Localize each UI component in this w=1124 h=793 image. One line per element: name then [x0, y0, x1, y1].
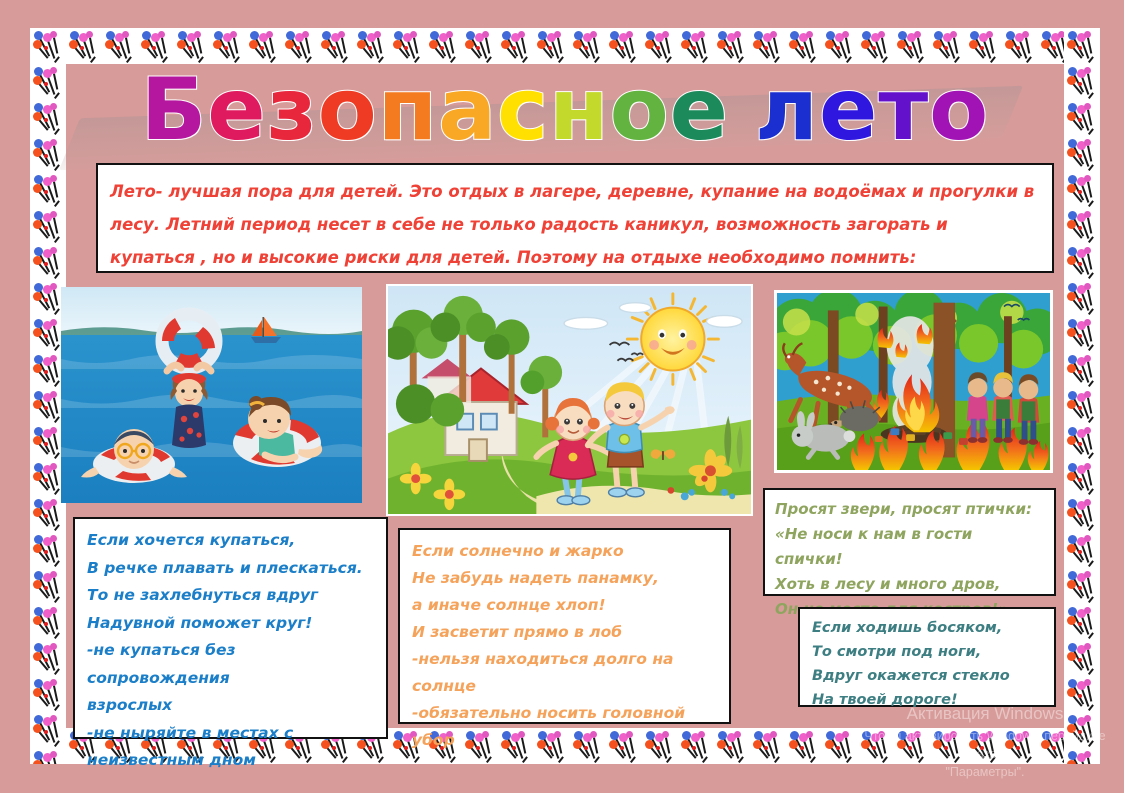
balloon-bunch-icon: [31, 677, 65, 711]
border-right: [1064, 28, 1100, 764]
forest-card-line-1: «Не носи к нам в гости спички!: [775, 522, 1044, 572]
title-letter-11: л: [755, 60, 819, 160]
fire-safety-rhyme-card: Просят звери, просят птички:«Не носи к н…: [763, 488, 1056, 596]
balloon-bunch-icon: [31, 569, 65, 603]
balloon-bunch-icon: [859, 29, 893, 63]
balloon-bunch-icon: [1065, 677, 1099, 711]
barefoot-card-line-0: Если ходишь босяком,: [812, 616, 1044, 640]
watermark-line-2: "Параметры".: [860, 763, 1110, 781]
balloon-bunch-icon: [175, 29, 209, 63]
balloon-bunch-icon: [103, 29, 137, 63]
balloon-bunch-icon: [1065, 461, 1099, 495]
title-letter-5: а: [438, 60, 497, 160]
balloon-bunch-icon: [31, 65, 65, 99]
balloon-bunch-icon: [1065, 497, 1099, 531]
title-letter-8: о: [610, 60, 670, 160]
balloon-bunch-icon: [931, 29, 965, 63]
balloon-bunch-icon: [859, 729, 893, 763]
sun-safety-rhyme-card: Если солнечно и жаркоНе забудь надеть па…: [398, 528, 731, 724]
balloon-bunch-icon: [1065, 173, 1099, 207]
forest-card-line-2: Хоть в лесу и много дров,: [775, 572, 1044, 597]
balloon-bunch-icon: [319, 29, 353, 63]
balloon-bunch-icon: [895, 729, 929, 763]
balloon-bunch-icon: [715, 29, 749, 63]
balloon-bunch-icon: [1003, 729, 1037, 763]
balloon-bunch-icon: [571, 29, 605, 63]
balloon-bunch-icon: [31, 317, 65, 351]
balloon-bunch-icon: [535, 29, 569, 63]
title-letter-3: о: [318, 60, 378, 160]
title-letter-7: н: [549, 60, 609, 160]
intro-card-line-0: Лето- лучшая пора для детей. Это отдых в…: [110, 175, 1040, 208]
balloon-bunch-icon: [823, 729, 857, 763]
balloon-bunch-icon: [607, 29, 641, 63]
balloon-bunch-icon: [211, 29, 245, 63]
balloon-bunch-icon: [679, 29, 713, 63]
balloon-bunch-icon: [31, 497, 65, 531]
barefoot-safety-rhyme-card: Если ходишь босяком,То смотри под ноги, …: [798, 607, 1056, 707]
title-letter-14: о: [929, 60, 989, 160]
title-letter-4: п: [378, 60, 438, 160]
title-letter-2: з: [267, 60, 318, 160]
title-letter-12: е: [819, 60, 878, 160]
balloon-bunch-icon: [31, 245, 65, 279]
balloon-bunch-icon: [1065, 641, 1099, 675]
balloon-bunch-icon: [643, 29, 677, 63]
barefoot-card-line-2: Вдруг окажется стекло: [812, 664, 1044, 688]
water-card-line-6: -не ныряйте в местах с: [87, 720, 376, 748]
water-safety-rhyme-card: Если хочется купаться,В речке плавать и …: [73, 517, 388, 739]
balloon-bunch-icon: [1065, 749, 1099, 764]
balloon-bunch-icon: [31, 173, 65, 207]
balloon-bunch-icon: [427, 29, 461, 63]
balloon-bunch-icon: [1065, 29, 1099, 63]
balloon-bunch-icon: [895, 29, 929, 63]
balloon-bunch-icon: [1065, 713, 1099, 747]
title-letter-13: т: [878, 60, 929, 160]
water-card-line-5: взрослых: [87, 692, 376, 720]
balloon-bunch-icon: [499, 29, 533, 63]
barefoot-card-line-1: То смотри под ноги,: [812, 640, 1044, 664]
balloon-bunch-icon: [31, 641, 65, 675]
balloon-bunch-icon: [715, 729, 749, 763]
forest-card-line-0: Просят звери, просят птички:: [775, 497, 1044, 522]
balloon-bunch-icon: [1065, 533, 1099, 567]
intro-card-line-1: лесу. Летний период несет в себе не толь…: [110, 208, 1040, 241]
water-card-line-4: -не купаться без сопровождения: [87, 637, 376, 692]
balloon-bunch-icon: [1065, 317, 1099, 351]
border-top: [30, 28, 1100, 64]
balloon-bunch-icon: [31, 461, 65, 495]
balloon-bunch-icon: [787, 29, 821, 63]
balloon-bunch-icon: [1065, 245, 1099, 279]
water-card-line-1: В речке плавать и плескаться.: [87, 555, 376, 583]
balloon-bunch-icon: [31, 353, 65, 387]
balloon-bunch-icon: [1065, 281, 1099, 315]
balloon-bunch-icon: [31, 209, 65, 243]
sun-card-line-4: -нельзя находиться долго на солнце: [412, 646, 719, 700]
balloon-bunch-icon: [31, 281, 65, 315]
balloon-bunch-icon: [751, 729, 785, 763]
sun-card-line-3: И засветит прямо в лоб: [412, 619, 719, 646]
balloon-bunch-icon: [787, 729, 821, 763]
title-letter-9: е: [670, 60, 729, 160]
title-letter-6: с: [497, 60, 549, 160]
balloon-bunch-icon: [1065, 137, 1099, 171]
balloon-bunch-icon: [1065, 209, 1099, 243]
balloon-bunch-icon: [31, 533, 65, 567]
balloon-bunch-icon: [1065, 101, 1099, 135]
title-letter-0: Б: [141, 60, 208, 160]
balloon-bunch-icon: [1003, 29, 1037, 63]
water-card-line-2: То не захлебнуться вдруг: [87, 582, 376, 610]
balloon-bunch-icon: [139, 29, 173, 63]
balloon-bunch-icon: [1065, 389, 1099, 423]
water-card-line-7: неизвестным дном: [87, 747, 376, 775]
sun-card-line-5: -обязательно носить головной: [412, 700, 719, 727]
balloon-bunch-icon: [31, 605, 65, 639]
balloon-bunch-icon: [31, 101, 65, 135]
water-card-line-0: Если хочется купаться,: [87, 527, 376, 555]
image-forest-fire: [774, 290, 1053, 473]
barefoot-card-line-3: На твоей дороге!: [812, 688, 1044, 712]
balloon-bunch-icon: [967, 729, 1001, 763]
balloon-bunch-icon: [1065, 65, 1099, 99]
water-card-line-3: Надувной поможет круг!: [87, 610, 376, 638]
balloon-bunch-icon: [247, 29, 281, 63]
balloon-bunch-icon: [355, 29, 389, 63]
sun-card-line-0: Если солнечно и жарко: [412, 538, 719, 565]
intro-card-line-2: купаться , но и высокие риски для детей.…: [110, 241, 1040, 274]
balloon-bunch-icon: [31, 29, 65, 63]
balloon-bunch-icon: [31, 749, 65, 764]
balloon-bunch-icon: [31, 425, 65, 459]
balloon-bunch-icon: [391, 29, 425, 63]
balloon-bunch-icon: [967, 29, 1001, 63]
poster-title-area: Безопасноелето: [66, 60, 1064, 160]
balloon-bunch-icon: [751, 29, 785, 63]
balloon-bunch-icon: [283, 29, 317, 63]
sun-card-line-6: убор: [412, 727, 719, 754]
sun-card-line-2: а иначе солнце хлоп!: [412, 592, 719, 619]
balloon-bunch-icon: [1065, 353, 1099, 387]
poster-canvas: Безопасноелето Лето- лучшая пора для дет…: [0, 0, 1124, 793]
intro-text-card: Лето- лучшая пора для детей. Это отдых в…: [96, 163, 1054, 273]
balloon-bunch-icon: [931, 729, 965, 763]
sun-card-line-1: Не забудь надеть панамку,: [412, 565, 719, 592]
balloon-bunch-icon: [463, 29, 497, 63]
balloon-bunch-icon: [1065, 605, 1099, 639]
title-letter-1: е: [207, 60, 266, 160]
page-title: Безопасноелето: [66, 60, 1064, 160]
balloon-bunch-icon: [67, 29, 101, 63]
balloon-bunch-icon: [31, 389, 65, 423]
image-children-swimming: [61, 287, 362, 503]
balloon-bunch-icon: [31, 713, 65, 747]
image-children-on-summer-hill: [386, 284, 753, 516]
balloon-bunch-icon: [1065, 425, 1099, 459]
balloon-bunch-icon: [823, 29, 857, 63]
balloon-bunch-icon: [1065, 569, 1099, 603]
